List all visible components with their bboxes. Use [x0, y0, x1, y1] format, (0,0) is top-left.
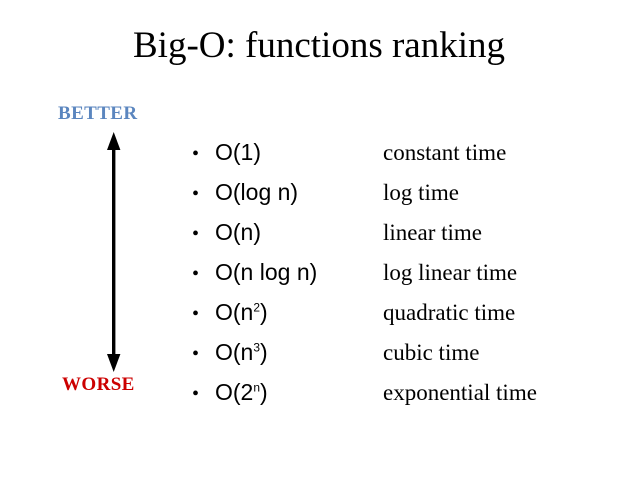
complexity-description: quadratic time [383, 299, 619, 327]
bullet-icon: • [189, 220, 215, 248]
slide-canvas: Big-O: functions ranking BETTER WORSE • … [0, 0, 638, 479]
complexity-notation: O(2n) [215, 378, 383, 406]
list-item: • O(n) linear time [189, 218, 619, 258]
complexity-description: exponential time [383, 379, 619, 407]
complexity-notation: O(n) [215, 218, 383, 246]
complexity-description: log linear time [383, 259, 619, 287]
complexity-description: linear time [383, 219, 619, 247]
bullet-icon: • [189, 260, 215, 288]
bullet-icon: • [189, 380, 215, 408]
list-item: • O(n2) quadratic time [189, 298, 619, 338]
complexity-notation: O(log n) [215, 178, 383, 206]
bullet-icon: • [189, 300, 215, 328]
superscript: 3 [253, 340, 260, 354]
complexity-notation: O(1) [215, 138, 383, 166]
worse-label: WORSE [62, 374, 135, 396]
list-item: • O(n log n) log linear time [189, 258, 619, 298]
list-item: • O(n3) cubic time [189, 338, 619, 378]
complexity-description: log time [383, 179, 619, 207]
complexity-notation: O(n2) [215, 298, 383, 326]
list-item: • O(log n) log time [189, 178, 619, 218]
bullet-icon: • [189, 340, 215, 368]
bullet-icon: • [189, 180, 215, 208]
better-label: BETTER [58, 103, 138, 125]
page-title: Big-O: functions ranking [0, 24, 638, 68]
arrow-svg [98, 130, 130, 374]
list-item: • O(1) constant time [189, 138, 619, 178]
bullet-icon: • [189, 140, 215, 168]
complexity-notation: O(n3) [215, 338, 383, 366]
double-headed-vertical-arrow-icon [98, 130, 130, 374]
complexity-description: constant time [383, 139, 619, 167]
superscript: 2 [253, 300, 260, 314]
complexity-description: cubic time [383, 339, 619, 367]
complexity-notation: O(n log n) [215, 258, 383, 286]
superscript: n [253, 380, 260, 394]
list-item: • O(2n) exponential time [189, 378, 619, 418]
complexity-list: • O(1) constant time • O(log n) log time… [189, 138, 619, 418]
